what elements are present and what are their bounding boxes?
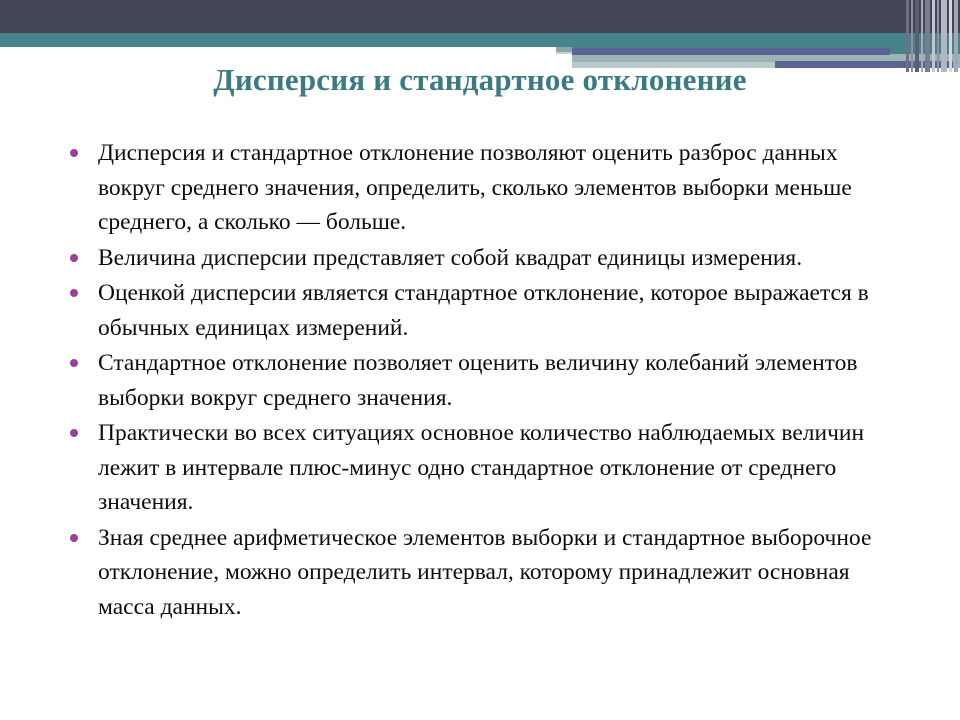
list-item: Стандартное отклонение позволяет оценить…: [62, 346, 898, 415]
bullet-dot-icon: [70, 289, 78, 297]
page-title: Дисперсия и стандартное отклонение: [0, 60, 960, 100]
list-item-text: Величина дисперсии представляет собой кв…: [98, 245, 802, 271]
list-item-text: Практически во всех ситуациях основное к…: [98, 420, 864, 515]
header-dark-band: [0, 0, 960, 33]
slide: Дисперсия и стандартное отклонение Диспе…: [0, 0, 960, 720]
list-item: Величина дисперсии представляет собой кв…: [62, 241, 898, 276]
list-item-text: Оценкой дисперсии является стандартное о…: [98, 280, 869, 341]
content-body: Дисперсия и стандартное отклонение позво…: [62, 136, 898, 625]
bullet-list: Дисперсия и стандартное отклонение позво…: [62, 136, 898, 624]
header-accent-bar-upper: [572, 48, 890, 55]
bullet-dot-icon: [70, 359, 78, 367]
bullet-dot-icon: [70, 534, 78, 542]
list-item-text: Дисперсия и стандартное отклонение позво…: [98, 140, 852, 235]
list-item: Оценкой дисперсии является стандартное о…: [62, 276, 898, 345]
list-item: Зная среднее арифметическое элементов вы…: [62, 521, 898, 625]
list-item: Дисперсия и стандартное отклонение позво…: [62, 136, 898, 240]
bullet-dot-icon: [70, 149, 78, 157]
bullet-dot-icon: [70, 254, 78, 262]
header-white-notch: [0, 47, 556, 59]
bullet-dot-icon: [70, 429, 78, 437]
list-item: Практически во всех ситуациях основное к…: [62, 416, 898, 520]
list-item-text: Зная среднее арифметическое элементов вы…: [98, 525, 871, 620]
list-item-text: Стандартное отклонение позволяет оценить…: [98, 350, 857, 411]
